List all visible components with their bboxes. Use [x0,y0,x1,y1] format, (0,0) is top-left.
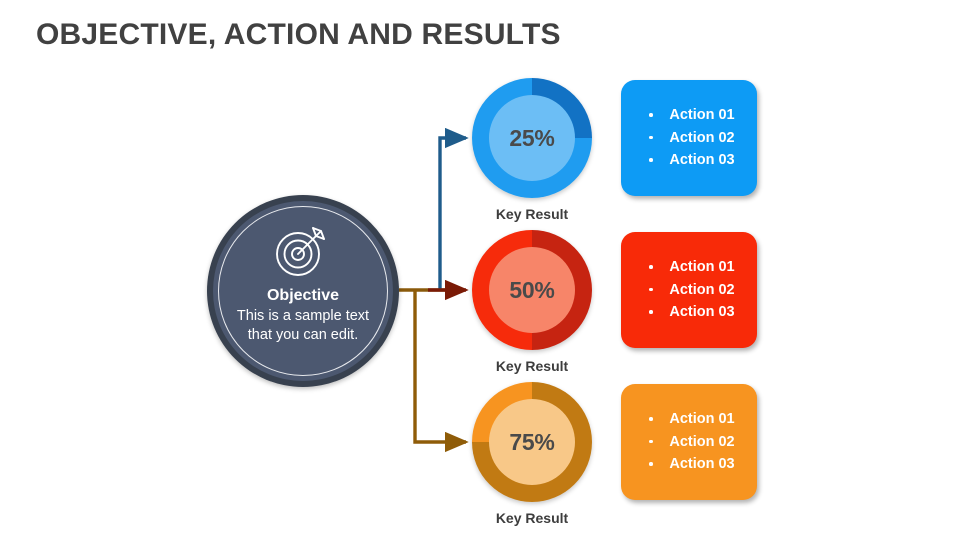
key-result-node-1[interactable]: 25% Key Result [472,78,592,222]
action-item[interactable]: Action 02 [647,127,734,150]
target-arrow-icon [272,224,334,280]
action-item[interactable]: Action 03 [647,453,734,476]
key-result-node-2[interactable]: 50% Key Result [472,230,592,374]
objective-node[interactable]: Objective This is a sample text that you… [207,195,399,387]
key-result-label-3: Key Result [472,510,592,526]
objective-description-line-1: This is a sample text [207,307,399,326]
action-item[interactable]: Action 01 [647,408,734,431]
action-item[interactable]: Action 01 [647,104,734,127]
donut-hole-2: 50% [489,247,575,333]
donut-hole-1: 25% [489,95,575,181]
action-box-3[interactable]: Action 01 Action 02 Action 03 [621,384,757,500]
donut-percent-label-3: 75% [509,429,554,456]
action-box-2[interactable]: Action 01 Action 02 Action 03 [621,232,757,348]
connector-objective-to-key-result-3 [415,290,466,442]
donut-percent-label-1: 25% [509,125,554,152]
key-result-node-3[interactable]: 75% Key Result [472,382,592,526]
donut-chart-2: 50% [472,230,592,350]
objective-heading: Objective [207,285,399,306]
action-item[interactable]: Action 01 [647,256,734,279]
action-list-1: Action 01 Action 02 Action 03 [643,104,734,172]
slide-canvas: OBJECTIVE, ACTION AND RESULTS [0,0,960,540]
objective-description-line-2: that you can edit. [207,326,399,345]
connector-objective-to-key-result-1 [440,138,466,290]
key-result-label-2: Key Result [472,358,592,374]
action-item[interactable]: Action 02 [647,279,734,302]
action-item[interactable]: Action 03 [647,301,734,324]
donut-chart-1: 25% [472,78,592,198]
objective-text-block: Objective This is a sample text that you… [207,285,399,345]
action-list-2: Action 01 Action 02 Action 03 [643,256,734,324]
action-list-3: Action 01 Action 02 Action 03 [643,408,734,476]
donut-chart-3: 75% [472,382,592,502]
action-box-1[interactable]: Action 01 Action 02 Action 03 [621,80,757,196]
page-title: OBJECTIVE, ACTION AND RESULTS [36,18,561,52]
donut-hole-3: 75% [489,399,575,485]
action-item[interactable]: Action 02 [647,431,734,454]
action-item[interactable]: Action 03 [647,149,734,172]
key-result-label-1: Key Result [472,206,592,222]
donut-percent-label-2: 50% [509,277,554,304]
